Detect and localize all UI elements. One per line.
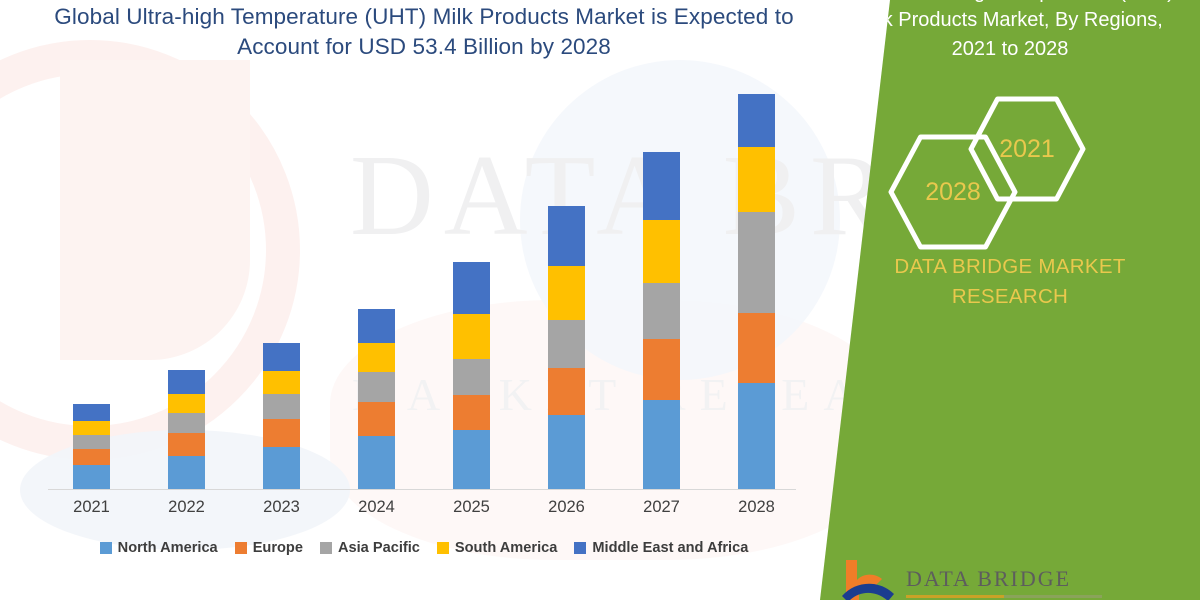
legend-label: Europe [253,540,303,556]
legend-item-europe[interactable]: Europe [235,540,303,556]
bar-segment-2025-europe [453,395,490,430]
bar-segment-2026-south-america [548,266,585,320]
bar-segment-2024-middle-east-and-africa [358,309,395,342]
bar-segment-2022-middle-east-and-africa [168,370,205,394]
bar-segment-2021-asia-pacific [73,435,110,449]
bar-segment-2027-europe [643,339,680,400]
bar-2024 [358,309,395,489]
x-axis-tick-labels: 20212022202320242025202620272028 [44,498,804,524]
x-tick-2026: 2026 [532,498,602,517]
bar-segment-2028-middle-east-and-africa [738,94,775,147]
bar-segment-2021-south-america [73,421,110,435]
panel-title: Global Ultra-high Temperature (UHT) Milk… [838,0,1182,63]
x-tick-2024: 2024 [342,498,412,517]
bar-segment-2024-asia-pacific [358,372,395,402]
logo-bridge-icon [840,556,896,600]
bar-2027 [643,152,680,489]
x-axis-line [48,489,796,490]
bar-2028 [738,94,775,489]
legend-item-middle-east-and-africa[interactable]: Middle East and Africa [574,540,748,556]
bar-2025 [453,262,490,489]
bar-segment-2023-north-america [263,447,300,489]
infographic-canvas: DATA BRIDGE MARKET RESEARCH Global Ultra… [0,0,1200,600]
legend-label: Asia Pacific [338,540,420,556]
legend-swatch-icon [235,542,247,554]
bar-segment-2028-europe [738,313,775,383]
bar-2022 [168,370,205,489]
bar-segment-2028-asia-pacific [738,212,775,313]
legend-swatch-icon [574,542,586,554]
legend-label: Middle East and Africa [592,540,748,556]
bar-segment-2022-europe [168,433,205,456]
bar-segment-2027-asia-pacific [643,283,680,338]
bar-segment-2025-south-america [453,314,490,359]
bar-segment-2026-middle-east-and-africa [548,206,585,266]
right-green-panel: Global Ultra-high Temperature (UHT) Milk… [820,0,1200,600]
bar-2021 [73,404,110,489]
logo-rule [906,595,1102,598]
hexagon-badge-2028-label: 2028 [925,178,981,207]
bar-segment-2024-north-america [358,436,395,489]
panel-brand-line2: RESEARCH [840,282,1180,312]
bar-segment-2028-south-america [738,147,775,212]
chart-plot-area [44,95,804,490]
x-tick-2025: 2025 [437,498,507,517]
bar-segment-2027-middle-east-and-africa [643,152,680,220]
bar-segment-2025-middle-east-and-africa [453,262,490,314]
bar-segment-2022-south-america [168,394,205,413]
bar-segment-2021-europe [73,449,110,465]
bar-segment-2024-europe [358,402,395,436]
hexagon-badge-2021-label: 2021 [999,135,1055,164]
bar-segment-2022-north-america [168,456,205,489]
bar-segment-2023-middle-east-and-africa [263,343,300,371]
panel-brand-line1: DATA BRIDGE MARKET [840,252,1180,282]
legend-label: South America [455,540,557,556]
bar-segment-2026-europe [548,368,585,416]
bar-segment-2023-south-america [263,371,300,395]
bar-segment-2027-south-america [643,220,680,283]
bar-2023 [263,343,300,489]
bar-segment-2026-north-america [548,415,585,489]
bar-segment-2027-north-america [643,400,680,489]
logo-wordmark: DATA BRIDGE MARKET RESEARCH [906,556,1102,600]
bar-segment-2025-asia-pacific [453,359,490,395]
bar-segment-2021-north-america [73,465,110,489]
legend-label: North America [118,540,218,556]
legend-item-south-america[interactable]: South America [437,540,557,556]
x-tick-2028: 2028 [722,498,792,517]
x-tick-2022: 2022 [152,498,222,517]
logo-title: DATA BRIDGE [906,566,1102,592]
page-title: Global Ultra-high Temperature (UHT) Milk… [44,2,804,63]
legend-swatch-icon [437,542,449,554]
bar-segment-2023-asia-pacific [263,394,300,418]
company-logo: DATA BRIDGE MARKET RESEARCH [840,556,1170,600]
bar-segment-2022-asia-pacific [168,413,205,433]
legend-swatch-icon [320,542,332,554]
stacked-bar-chart [44,95,804,490]
bar-segment-2023-europe [263,419,300,447]
x-tick-2023: 2023 [247,498,317,517]
bar-segment-2025-north-america [453,430,490,489]
bar-segment-2021-middle-east-and-africa [73,404,110,421]
x-tick-2021: 2021 [57,498,127,517]
bar-segment-2024-south-america [358,343,395,373]
hexagon-badges: 2021 2028 [820,96,1200,226]
legend-swatch-icon [100,542,112,554]
bar-segment-2028-north-america [738,383,775,489]
legend-item-north-america[interactable]: North America [100,540,218,556]
bar-2026 [548,206,585,489]
panel-brand: DATA BRIDGE MARKET RESEARCH [840,252,1180,311]
chart-legend: North AmericaEuropeAsia PacificSouth Ame… [44,540,804,556]
x-tick-2027: 2027 [627,498,697,517]
legend-item-asia-pacific[interactable]: Asia Pacific [320,540,420,556]
bar-segment-2026-asia-pacific [548,320,585,367]
